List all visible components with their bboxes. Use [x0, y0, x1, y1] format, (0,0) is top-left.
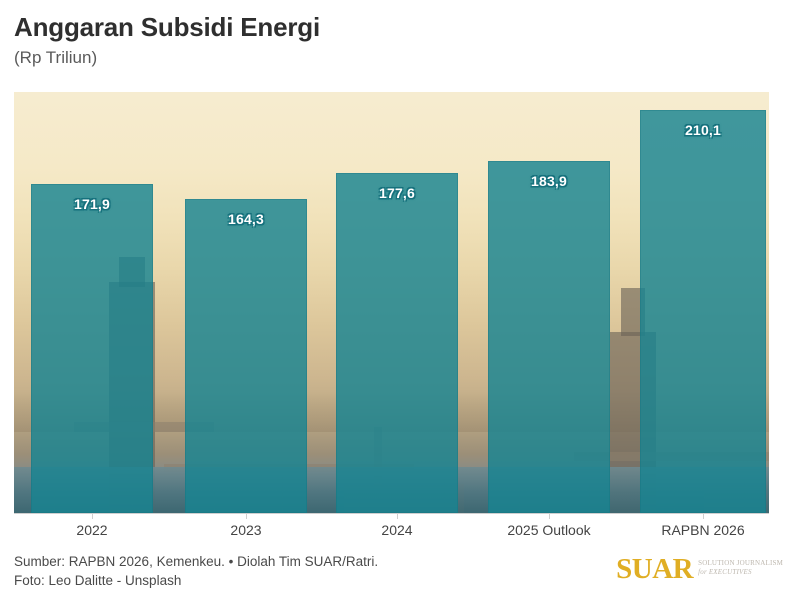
bar-2023[interactable]: 164,3	[185, 199, 307, 513]
bar-series: 171,9 164,3 177,6 183,9 210,1	[14, 92, 769, 513]
axis-line	[14, 513, 769, 514]
axis-tick-2026	[703, 513, 704, 519]
axis-tick-2022	[92, 513, 93, 519]
bar-value-label: 177,6	[336, 185, 458, 201]
chart-header: Anggaran Subsidi Energi (Rp Triliun)	[14, 10, 774, 70]
axis-label-2025-outlook: 2025 Outlook	[507, 522, 590, 538]
axis-label-2022: 2022	[76, 522, 107, 538]
page-title: Anggaran Subsidi Energi	[14, 10, 774, 44]
x-axis: 2022 2023 2024 2025 Outlook RAPBN 2026	[14, 513, 769, 547]
bar-2024[interactable]: 177,6	[336, 173, 458, 513]
logo-tagline-line1: SOLUTION JOURNALISM	[698, 559, 783, 568]
bar-value-label: 171,9	[31, 196, 153, 212]
logo-tagline-line2: for EXECUTIVES	[698, 568, 783, 577]
bar-2025-outlook[interactable]: 183,9	[488, 161, 610, 513]
suar-logo: SUAR SOLUTION JOURNALISM for EXECUTIVES	[616, 554, 783, 584]
logo-tagline: SOLUTION JOURNALISM for EXECUTIVES	[698, 559, 783, 577]
chart-subtitle: (Rp Triliun)	[14, 46, 774, 70]
axis-label-rapbn-2026: RAPBN 2026	[661, 522, 744, 538]
plot-area: 171,9 164,3 177,6 183,9 210,1	[14, 92, 769, 513]
axis-tick-2023	[246, 513, 247, 519]
bar-rapbn-2026[interactable]: 210,1	[640, 110, 766, 513]
bar-value-label: 164,3	[185, 211, 307, 227]
axis-label-2024: 2024	[381, 522, 412, 538]
axis-tick-2024	[397, 513, 398, 519]
bar-2022[interactable]: 171,9	[31, 184, 153, 513]
chart-page: Anggaran Subsidi Energi (Rp Triliun)	[0, 0, 795, 599]
logo-wordmark: SUAR	[616, 554, 693, 584]
axis-label-2023: 2023	[230, 522, 261, 538]
bar-value-label: 183,9	[488, 173, 610, 189]
axis-tick-2025	[549, 513, 550, 519]
bar-value-label: 210,1	[640, 122, 766, 138]
